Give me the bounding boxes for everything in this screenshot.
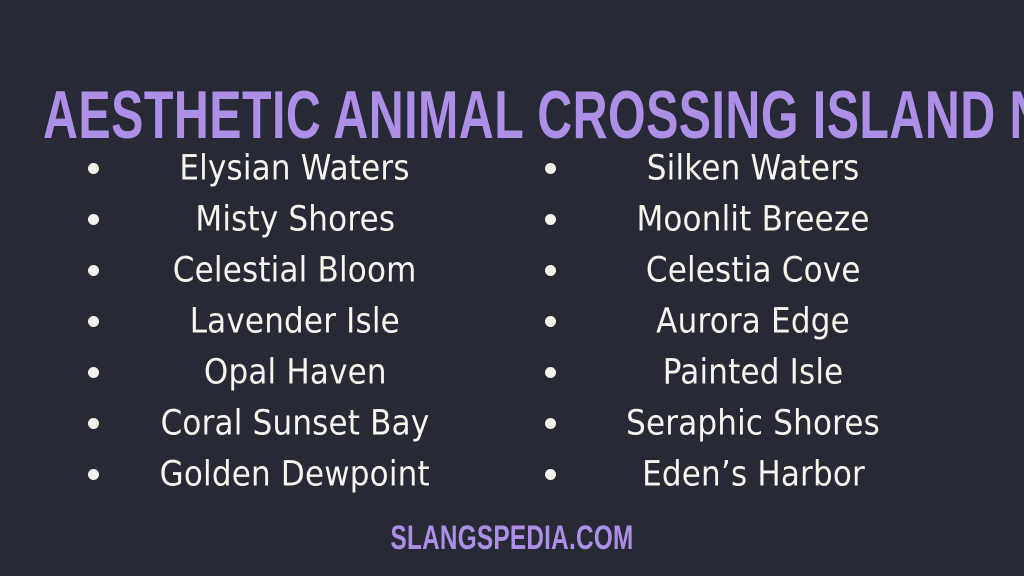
island-name-label: Opal Haven: [204, 354, 387, 389]
list-item: Moonlit Breeze: [539, 193, 942, 244]
list-item: Elysian Waters: [82, 142, 482, 193]
bullet-dot-icon: [88, 316, 99, 327]
island-names-list-container: Elysian WatersMisty ShoresCelestial Bloo…: [0, 142, 1024, 502]
bullet-dot-icon: [545, 214, 556, 225]
island-names-list-left: Elysian WatersMisty ShoresCelestial Bloo…: [82, 142, 482, 499]
island-name-label: Aurora Edge: [657, 303, 851, 338]
bullet-dot-icon: [545, 316, 556, 327]
island-name-label: Elysian Waters: [180, 150, 410, 185]
island-name-label: Celestia Cove: [646, 252, 861, 287]
poster-canvas: Aesthetic Animal Crossing Island Names E…: [0, 0, 1024, 576]
list-item: Golden Dewpoint: [82, 448, 482, 499]
list-item: Seraphic Shores: [539, 397, 942, 448]
bullet-dot-icon: [88, 265, 99, 276]
island-name-label: Lavender Isle: [190, 303, 400, 338]
bullet-dot-icon: [88, 214, 99, 225]
island-names-list-right: Silken WatersMoonlit BreezeCelestia Cove…: [539, 142, 942, 499]
island-name-label: Moonlit Breeze: [637, 201, 870, 236]
island-name-label: Celestial Bloom: [173, 252, 417, 287]
bullet-dot-icon: [88, 367, 99, 378]
bullet-dot-icon: [88, 418, 99, 429]
bullet-dot-icon: [88, 163, 99, 174]
island-name-label: Painted Isle: [663, 354, 844, 389]
list-item: Painted Isle: [539, 346, 942, 397]
footer-site-link[interactable]: slangspedia.com: [390, 521, 633, 556]
list-item: Opal Haven: [82, 346, 482, 397]
bullet-dot-icon: [88, 469, 99, 480]
island-name-label: Silken Waters: [647, 150, 860, 185]
list-item: Celestia Cove: [539, 244, 942, 295]
bullet-dot-icon: [545, 418, 556, 429]
list-item: Eden’s Harbor: [539, 448, 942, 499]
island-name-label: Misty Shores: [195, 201, 395, 236]
list-column-right: Silken WatersMoonlit BreezeCelestia Cove…: [512, 142, 1024, 499]
list-item: Celestial Bloom: [82, 244, 482, 295]
list-item: Silken Waters: [539, 142, 942, 193]
list-column-left: Elysian WatersMisty ShoresCelestial Bloo…: [0, 142, 512, 499]
island-name-label: Seraphic Shores: [627, 405, 881, 440]
bullet-dot-icon: [545, 469, 556, 480]
footer: slangspedia.com: [0, 521, 1024, 548]
bullet-dot-icon: [545, 163, 556, 174]
list-item: Misty Shores: [82, 193, 482, 244]
list-item: Aurora Edge: [539, 295, 942, 346]
island-name-label: Eden’s Harbor: [642, 456, 865, 491]
bullet-dot-icon: [545, 265, 556, 276]
island-name-label: Coral Sunset Bay: [161, 405, 430, 440]
bullet-dot-icon: [545, 367, 556, 378]
list-item: Coral Sunset Bay: [82, 397, 482, 448]
list-item: Lavender Isle: [82, 295, 482, 346]
island-name-label: Golden Dewpoint: [160, 456, 430, 491]
page-title: Aesthetic Animal Crossing Island Names: [43, 82, 1024, 150]
